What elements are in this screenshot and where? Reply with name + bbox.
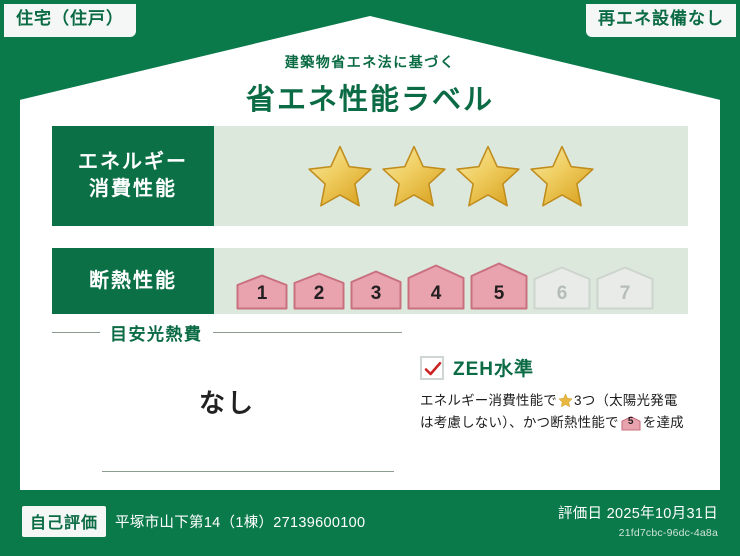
star-icon [306,143,374,209]
insulation-level-badge: 4 [407,264,465,310]
evaluation-date: 評価日 2025年10月31日 [558,502,718,523]
zeh-section: ZEH水準 エネルギー消費性能で3つ（太陽光発電 は考慮しない）、かつ断熱性能で… [402,316,692,482]
label-card: 建築物省エネ法に基づく 省エネ性能ラベル エネルギー 消費性能 断熱性能 123… [20,16,720,490]
insulation-level-value: 3 [350,283,402,305]
star-icon [454,143,522,209]
self-evaluation-badge: 自己評価 [22,506,106,537]
insulation-label-text: 断熱性能 [89,268,177,295]
insulation-performance-row: 断熱性能 1234567 [52,248,688,314]
zeh-desc-part2: 3つ（太陽光発電 [574,393,678,408]
utility-cost-value: なし [52,383,402,420]
insulation-level-badge: 3 [350,270,402,310]
energy-performance-label: エネルギー 消費性能 [52,126,214,226]
star-rating [306,143,596,209]
insulation-level-value: 2 [293,283,345,305]
insulation-performance-value: 1234567 [214,248,688,314]
star-icon [558,393,573,408]
energy-label-line2: 消費性能 [89,176,177,203]
cost-underline [102,471,394,472]
label-title-block: 建築物省エネ法に基づく 省エネ性能ラベル [20,52,720,118]
footer-right-group: 評価日 2025年10月31日 21fd7cbc-96dc-4a8a [558,502,718,539]
cost-rule-right [213,332,403,333]
energy-performance-row: エネルギー 消費性能 [52,126,688,226]
property-address: 平塚市山下第14（1棟）27139600100 [115,511,365,532]
cost-rule-left [52,332,100,333]
utility-cost-heading: 目安光熱費 [52,320,402,345]
lower-section: 目安光熱費 なし ZEH水準 エネルギー消費性能で3つ（太陽光発電 は考慮しない… [52,316,692,482]
utility-cost-title: 目安光熱費 [110,320,203,345]
zeh-desc-part1: エネルギー消費性能で [420,393,557,408]
energy-label-line1: エネルギー [78,149,188,176]
check-icon [424,360,442,378]
house-badge-value: 5 [621,414,641,431]
footer-left-group: 自己評価 平塚市山下第14（1棟）27139600100 [22,506,365,537]
energy-performance-value [214,126,688,226]
insulation-level-badge: 1 [236,274,288,310]
house-badge-icon: 5 [621,416,641,431]
insulation-level-scale: 1234567 [236,262,654,310]
zeh-title: ZEH水準 [453,354,534,381]
zeh-checkbox[interactable] [420,356,444,380]
insulation-level-value: 5 [470,283,528,305]
star-icon [528,143,596,209]
footer: 自己評価 平塚市山下第14（1棟）27139600100 評価日 2025年10… [0,490,740,556]
insulation-level-badge: 7 [596,266,654,310]
zeh-heading: ZEH水準 [420,354,692,381]
zeh-description: エネルギー消費性能で3つ（太陽光発電 は考慮しない）、かつ断熱性能で5を達成 [420,390,692,435]
insulation-level-badge: 5 [470,262,528,310]
label-hash-id: 21fd7cbc-96dc-4a8a [558,527,718,539]
title-subtitle: 建築物省エネ法に基づく [20,52,720,72]
insulation-level-badge: 6 [533,266,591,310]
insulation-level-value: 1 [236,283,288,305]
insulation-level-badge: 2 [293,272,345,310]
insulation-performance-label: 断熱性能 [52,248,214,314]
renewable-energy-badge: 再エネ設備なし [586,4,736,37]
building-type-badge: 住宅（住戸） [4,4,136,37]
page-title: 省エネ性能ラベル [20,76,720,118]
utility-cost-section: 目安光熱費 なし [52,316,402,482]
zeh-desc-line2-part1: は考慮しない）、かつ断熱性能で [420,415,619,430]
star-icon [380,143,448,209]
insulation-level-value: 7 [596,283,654,305]
insulation-level-value: 4 [407,283,465,305]
insulation-level-value: 6 [533,283,591,305]
zeh-desc-line2-part2: を達成 [643,415,684,430]
